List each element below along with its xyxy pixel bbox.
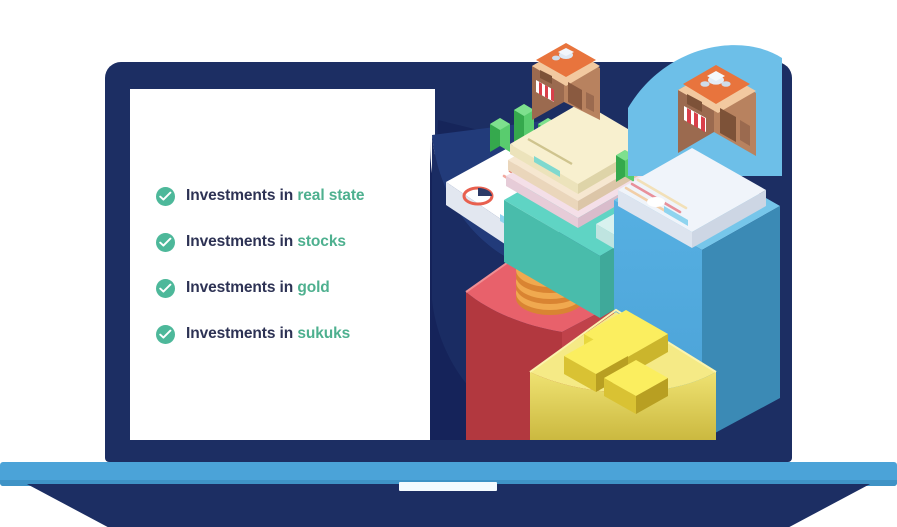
list-item-accent: stocks (297, 233, 346, 250)
illustration-canvas: Investments in real state Investments in… (0, 0, 897, 527)
list-item-label: Investments in gold (186, 279, 330, 297)
list-item-accent: real state (297, 187, 364, 204)
check-circle-icon (156, 187, 175, 206)
list-item-accent: gold (297, 279, 329, 296)
list-item-accent: sukuks (297, 325, 350, 342)
list-item-prefix: Investments in (186, 325, 297, 342)
list-item-label: Investments in sukuks (186, 325, 350, 343)
list-item-prefix: Investments in (186, 187, 297, 204)
laptop-screen: Investments in real state Investments in… (130, 89, 767, 440)
list-item-prefix: Investments in (186, 279, 297, 296)
list-item-label: Investments in real state (186, 187, 364, 205)
list-item[interactable]: Investments in stocks (156, 219, 441, 265)
list-item[interactable]: Investments in real state (156, 173, 441, 219)
check-circle-icon (156, 233, 175, 252)
check-circle-icon (156, 325, 175, 344)
list-item-label: Investments in stocks (186, 233, 346, 251)
investment-bullet-list: Investments in real state Investments in… (156, 173, 441, 357)
list-item-prefix: Investments in (186, 233, 297, 250)
laptop-trackpad-notch (399, 482, 497, 491)
screen-content-panel: Investments in real state Investments in… (130, 89, 435, 440)
check-circle-icon (156, 279, 175, 298)
list-item[interactable]: Investments in gold (156, 265, 441, 311)
list-item[interactable]: Investments in sukuks (156, 311, 441, 357)
